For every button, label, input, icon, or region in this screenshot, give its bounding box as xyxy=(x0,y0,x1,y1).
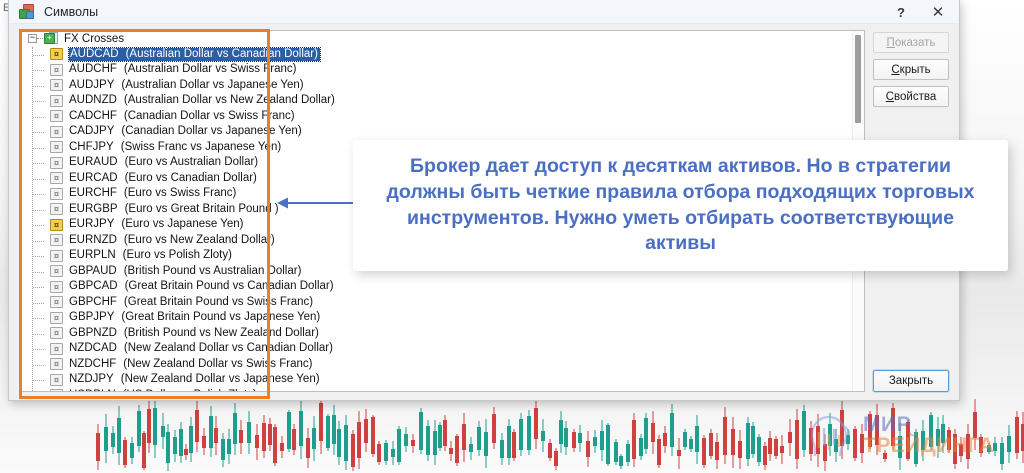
currency-gray-icon: ¤ xyxy=(50,265,63,277)
symbol-code: EURJPY xyxy=(69,218,114,231)
symbol-description: (New Zealand Dollar vs Japanese Yen) xyxy=(121,373,320,386)
tree-item-gbpchf[interactable]: ¤GBPCHF(Great Britain Pound vs Swiss Fra… xyxy=(22,295,864,311)
symbol-code: USDPLN xyxy=(69,389,116,392)
symbol-description: (Australian Dollar vs Canadian Dollar) xyxy=(126,48,318,61)
symbol-code: GBPJPY xyxy=(69,311,114,324)
properties-button[interactable]: Свойства xyxy=(873,86,949,107)
watermark-line-1: МИР xyxy=(863,414,994,435)
symbol-description: (Euro vs Polish Zloty) xyxy=(123,249,232,262)
symbol-code: CADJPY xyxy=(69,125,114,138)
symbol-code: EURNZD xyxy=(69,234,117,247)
watermark-text: МИР ТРЕЙДИНГА xyxy=(863,414,994,457)
currency-gray-icon: ¤ xyxy=(50,188,63,200)
symbol-description: (British Pound vs Australian Dollar) xyxy=(124,265,302,278)
show-button[interactable]: Показать xyxy=(873,32,949,53)
expander-icon[interactable]: − xyxy=(28,34,37,43)
tree-item-gbpnzd[interactable]: ¤GBPNZD(British Pound vs New Zealand Dol… xyxy=(22,326,864,342)
hide-button-label: крыть xyxy=(900,64,931,76)
tree-item-cadjpy[interactable]: ¤CADJPY(Canadian Dollar vs Japanese Yen) xyxy=(22,124,864,140)
symbol-code: EURPLN xyxy=(69,249,116,262)
symbol-code: NZDCAD xyxy=(69,342,117,355)
symbol-code: AUDCAD xyxy=(70,48,119,61)
symbol-description: (Euro vs New Zealand Dollar) xyxy=(124,234,275,247)
symbol-code: EURCAD xyxy=(69,172,118,185)
currency-gray-icon: ¤ xyxy=(50,250,63,262)
symbol-description: (Euro vs Canadian Dollar) xyxy=(125,172,257,185)
currency-gray-icon: ¤ xyxy=(50,64,63,76)
close-dialog-button-mnemonic: З xyxy=(889,375,896,387)
symbol-description: (British Pound vs New Zealand Dollar) xyxy=(124,327,319,340)
symbol-code: AUDNZD xyxy=(69,94,117,107)
hide-button-mnemonic: С xyxy=(891,64,899,76)
tree-scrollbar-thumb[interactable] xyxy=(855,35,861,123)
currency-gray-icon: ¤ xyxy=(50,172,63,184)
symbol-description: (Great Britain Pound vs Canadian Dollar) xyxy=(125,280,334,293)
dialog-titlebar: Символы ? ✕ xyxy=(9,0,959,24)
symbol-code: EURCHF xyxy=(69,187,117,200)
symbols-icon xyxy=(19,4,35,20)
callout-text: Брокер дает доступ к десяткам активов. Н… xyxy=(369,154,992,258)
symbol-description: (Swiss Franc vs Japanese Yen) xyxy=(121,141,281,154)
symbol-code: CADCHF xyxy=(69,110,117,123)
symbol-description: (Australian Dollar vs New Zealand Dollar… xyxy=(124,94,335,107)
currency-gray-icon: ¤ xyxy=(50,95,63,107)
symbol-description: (Euro vs Japanese Yen) xyxy=(121,218,243,231)
tree-item-audchf[interactable]: ¤AUDCHF(Australian Dollar vs Swiss Franc… xyxy=(22,62,864,78)
symbol-code: GBPAUD xyxy=(69,265,117,278)
symbol-description: (Australian Dollar vs Japanese Yen) xyxy=(121,79,303,92)
tree-group-fx-crosses[interactable]: −+FX Crosses xyxy=(22,31,864,47)
tree-group-label: FX Crosses xyxy=(64,33,124,45)
currency-gold-icon: ¤ xyxy=(50,219,63,231)
currency-gray-icon: ¤ xyxy=(50,343,63,355)
symbol-description: (Canadian Dollar vs Japanese Yen) xyxy=(121,125,301,138)
symbol-code: CHFJPY xyxy=(69,141,114,154)
symbol-code: EURGBP xyxy=(69,203,118,216)
tree-item-gbpcad[interactable]: ¤GBPCAD(Great Britain Pound vs Canadian … xyxy=(22,279,864,295)
tree-item-gbpjpy[interactable]: ¤GBPJPY(Great Britain Pound vs Japanese … xyxy=(22,310,864,326)
tree-item-nzdchf[interactable]: ¤NZDCHF(New Zealand Dollar vs Swiss Fran… xyxy=(22,357,864,373)
symbol-code: GBPCAD xyxy=(69,280,118,293)
symbol-description: (Great Britain Pound vs Swiss Franc) xyxy=(124,296,313,309)
properties-button-label: войства xyxy=(894,91,936,103)
hide-button[interactable]: Скрыть xyxy=(873,59,949,80)
show-button-mnemonic: П xyxy=(887,37,895,49)
head-profile-candles-logo xyxy=(808,412,854,458)
tree-item-audnzd[interactable]: ¤AUDNZD(Australian Dollar vs New Zealand… xyxy=(22,93,864,109)
symbol-description: (US Dollar vs Polish Zloty) xyxy=(123,389,257,392)
currency-gray-icon: ¤ xyxy=(50,110,63,122)
currency-gray-icon: ¤ xyxy=(50,234,63,246)
tree-item-audcad[interactable]: ¤AUDCAD(Australian Dollar vs Canadian Do… xyxy=(22,47,864,63)
help-icon[interactable]: ? xyxy=(884,0,918,24)
symbol-code: AUDJPY xyxy=(69,79,114,92)
dialog-side-buttons: Показать Скрыть Свойства xyxy=(873,32,949,107)
currency-gray-icon: ¤ xyxy=(50,79,63,91)
currency-gray-icon: ¤ xyxy=(50,203,63,215)
currency-gray-icon: ¤ xyxy=(50,126,63,138)
currency-gray-icon: ¤ xyxy=(50,157,63,169)
tree-item-nzdjpy[interactable]: ¤NZDJPY(New Zealand Dollar vs Japanese Y… xyxy=(22,372,864,388)
tree-item-nzdcad[interactable]: ¤NZDCAD(New Zealand Dollar vs Canadian D… xyxy=(22,341,864,357)
symbol-description: (Euro vs Australian Dollar) xyxy=(125,156,259,169)
show-button-label: оказать xyxy=(895,37,936,49)
tree-item-cadchf[interactable]: ¤CADCHF(Canadian Dollar vs Swiss Franc) xyxy=(22,109,864,125)
currency-gray-icon: ¤ xyxy=(50,281,63,293)
symbol-code: GBPCHF xyxy=(69,296,117,309)
folder-icon: + xyxy=(44,32,58,45)
watermark: МИР ТРЕЙДИНГА xyxy=(808,412,994,458)
currency-gray-icon: ¤ xyxy=(50,141,63,153)
close-icon[interactable]: ✕ xyxy=(921,0,955,24)
properties-button-mnemonic: С xyxy=(886,91,894,103)
symbol-description: (Australian Dollar vs Swiss Franc) xyxy=(124,63,297,76)
symbol-description: (Euro vs Swiss Franc) xyxy=(124,187,236,200)
dialog-title: Символы xyxy=(44,5,98,19)
symbol-code: NZDCHF xyxy=(69,358,116,371)
watermark-line-2: ТРЕЙДИНГА xyxy=(863,435,994,456)
symbol-description: (New Zealand Dollar vs Canadian Dollar) xyxy=(124,342,333,355)
symbol-code: EURAUD xyxy=(69,156,118,169)
symbol-description: (Euro vs Great Britain Pound ) xyxy=(125,203,279,216)
symbol-description: (Canadian Dollar vs Swiss Franc) xyxy=(124,110,295,123)
currency-gray-icon: ¤ xyxy=(50,358,63,370)
currency-gray-icon: ¤ xyxy=(50,389,63,392)
symbol-code: NZDJPY xyxy=(69,373,114,386)
symbol-description: (New Zealand Dollar vs Swiss Franc) xyxy=(123,358,312,371)
symbol-code: GBPNZD xyxy=(69,327,117,340)
close-dialog-button[interactable]: Закрыть xyxy=(873,370,949,392)
tree-item-audjpy[interactable]: ¤AUDJPY(Australian Dollar vs Japanese Ye… xyxy=(22,78,864,94)
currency-gray-icon: ¤ xyxy=(50,312,63,324)
callout-arrow-icon xyxy=(277,196,353,210)
currency-gray-icon: ¤ xyxy=(50,296,63,308)
callout-box: Брокер дает доступ к десяткам активов. Н… xyxy=(353,140,1008,271)
currency-gray-icon: ¤ xyxy=(50,374,63,386)
symbol-description: (Great Britain Pound vs Japanese Yen) xyxy=(121,311,320,324)
symbol-code: AUDCHF xyxy=(69,63,117,76)
currency-gray-icon: ¤ xyxy=(50,327,63,339)
currency-gold-icon: ¤ xyxy=(50,48,63,60)
close-dialog-button-label: акрыть xyxy=(896,375,933,387)
app-root: EU МИР ТРЕЙДИНГА Символы ? xyxy=(0,0,1024,473)
tree-item-usdpln[interactable]: ¤USDPLN(US Dollar vs Polish Zloty) xyxy=(22,388,864,393)
